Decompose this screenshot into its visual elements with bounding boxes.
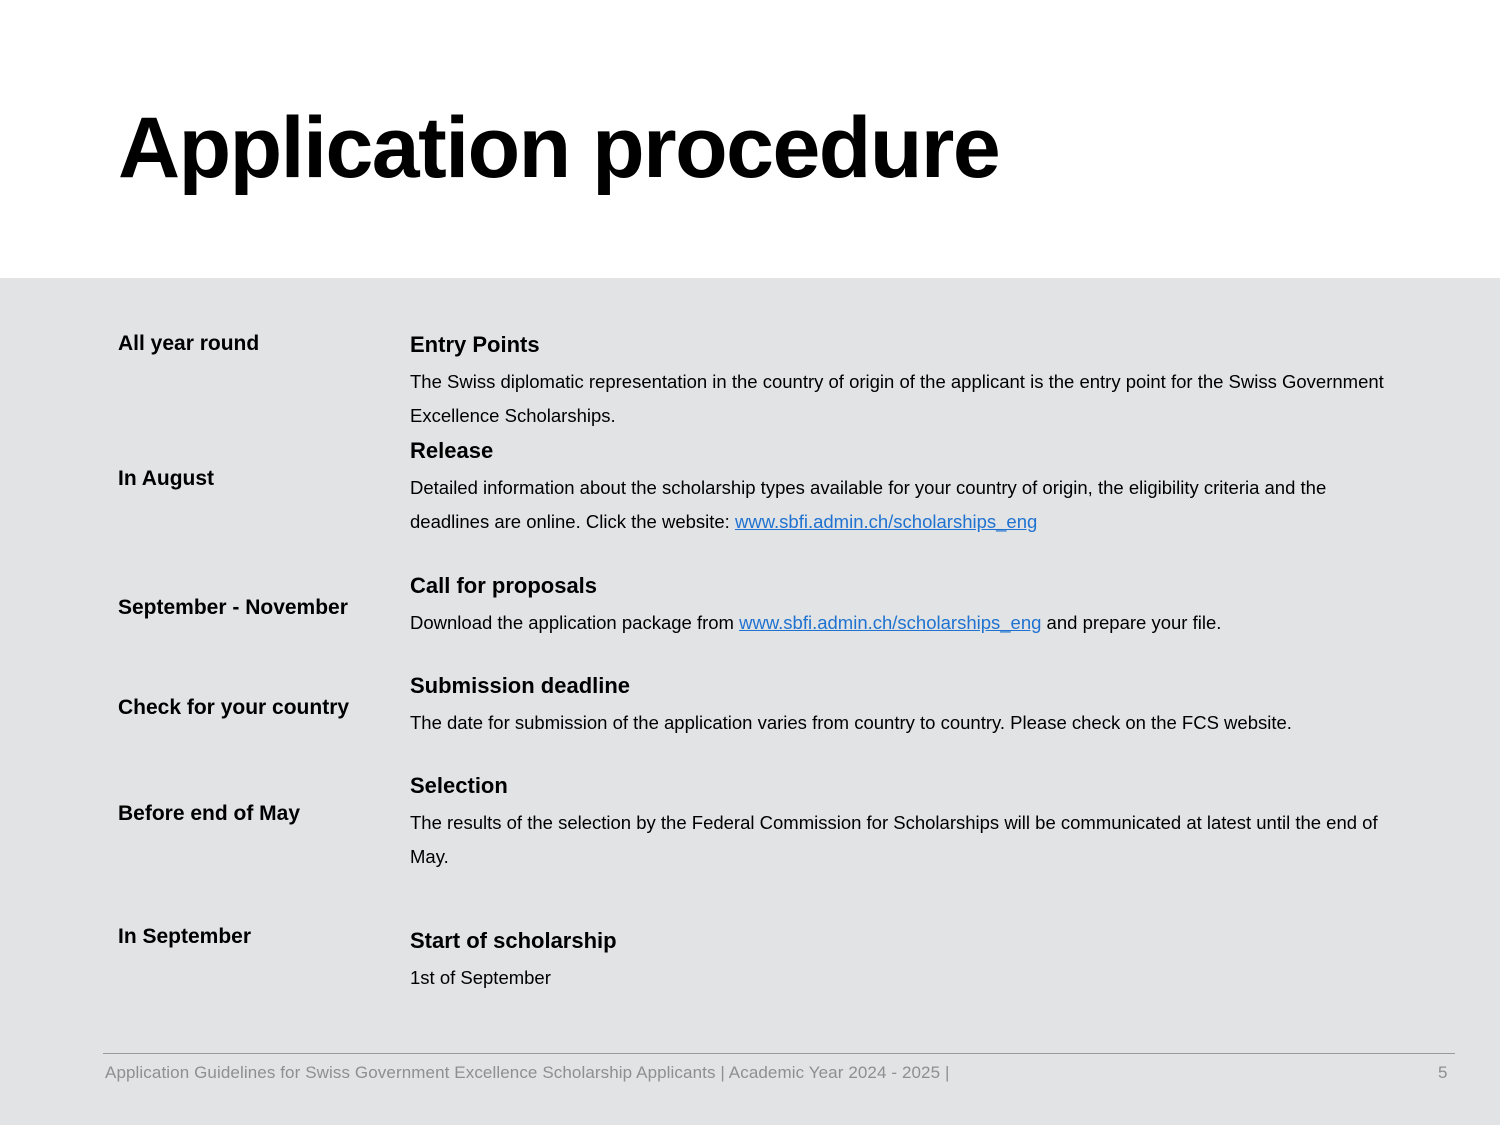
row-text-after: and prepare your file. [1041,612,1221,633]
row-label-selection: Before end of May [118,801,398,826]
row-heading-call-for-proposals: Call for proposals [410,573,1410,599]
row-content-start-of-scholarship: Start of scholarship 1st of September [410,928,1410,995]
row-content-release: Release Detailed information about the s… [410,438,1410,539]
row-label-entry-points: All year round [118,331,398,356]
row-heading-entry-points: Entry Points [410,332,1410,358]
row-text-submission-deadline: The date for submission of the applicati… [410,706,1410,740]
row-label-submission-deadline: Check for your country [118,695,398,720]
scholarships-link[interactable]: www.sbfi.admin.ch/scholarships_eng [735,511,1037,532]
row-content-submission-deadline: Submission deadline The date for submiss… [410,673,1410,740]
row-text-before: 1st of September [410,967,551,988]
row-text-call-for-proposals: Download the application package from ww… [410,606,1410,640]
row-text-before: The Swiss diplomatic representation in t… [410,371,1384,426]
row-text-entry-points: The Swiss diplomatic representation in t… [410,365,1410,432]
page-title: Application procedure [118,105,999,191]
row-heading-start-of-scholarship: Start of scholarship [410,928,1410,954]
row-heading-release: Release [410,438,1410,464]
row-content-selection: Selection The results of the selection b… [410,773,1410,874]
title-band: Application procedure [0,0,1500,278]
footer-divider [103,1053,1455,1054]
row-text-before: Download the application package from [410,612,739,633]
row-heading-selection: Selection [410,773,1410,799]
row-text-start-of-scholarship: 1st of September [410,961,1410,995]
row-content-entry-points: Entry Points The Swiss diplomatic repres… [410,332,1410,433]
row-label-release: In August [118,466,398,491]
footer-text: Application Guidelines for Swiss Governm… [105,1063,950,1083]
row-label-call-for-proposals: September - November [118,595,398,620]
row-text-selection: The results of the selection by the Fede… [410,806,1410,873]
row-text-before: The date for submission of the applicati… [410,712,1292,733]
row-text-release: Detailed information about the scholarsh… [410,471,1410,538]
page-number: 5 [1438,1063,1468,1083]
scholarships-link[interactable]: www.sbfi.admin.ch/scholarships_eng [739,612,1041,633]
row-heading-submission-deadline: Submission deadline [410,673,1410,699]
row-content-call-for-proposals: Call for proposals Download the applicat… [410,573,1410,640]
row-label-start-of-scholarship: In September [118,924,398,949]
row-text-before: The results of the selection by the Fede… [410,812,1378,867]
content-band: All year round Entry Points The Swiss di… [0,278,1500,1125]
slide: Application procedure All year round Ent… [0,0,1500,1125]
